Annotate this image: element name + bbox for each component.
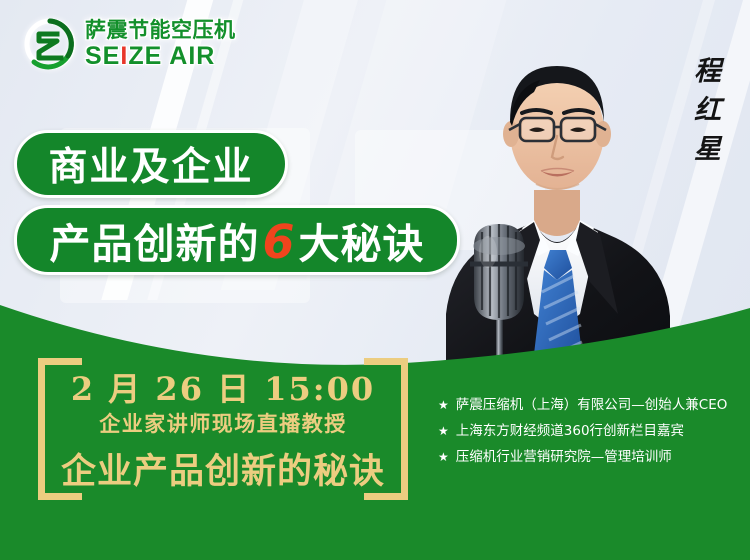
headline-line-2: 产品创新的6大秘诀 [49,210,424,270]
name-char-1: 程 [686,52,730,91]
star-icon: ★ [438,444,449,470]
logo-wordmark: 萨震节能空压机 SEIZE AIR [85,20,236,69]
star-icon: ★ [438,418,449,444]
speaker-name-vertical: 程 红 星 [686,52,730,169]
event-date-time: 2 月 26 日 15:00 [38,364,408,410]
star-icon: ★ [438,392,449,418]
event-main-title: 企业产品创新的秘诀 [38,443,408,494]
logo-english-name: SEIZE AIR [85,44,236,69]
headline-number: 6 [259,215,298,269]
credentials-list: ★ 萨震压缩机（上海）有限公司—创始人兼CEO ★ 上海东方财经频道360行创新… [438,392,738,470]
headline-line-1: 商业及企业 [48,136,253,192]
bracket-left-bottom [38,493,82,500]
sz-monogram-icon [24,18,76,70]
headline-band-1: 商业及企业 [14,130,288,198]
logo-chinese-name: 萨震节能空压机 [85,20,236,41]
name-char-2: 红 [686,91,730,130]
credential-text: 压缩机行业营销研究院—管理培训师 [456,444,672,470]
event-details: 2 月 26 日 15:00 企业家讲师现场直播教授 企业产品创新的秘诀 [38,358,408,500]
event-subtitle: 企业家讲师现场直播教授 [38,408,408,438]
brand-logo: 萨震节能空压机 SEIZE AIR [24,18,236,70]
name-char-3: 星 [686,130,730,169]
bracket-right-bottom [364,493,408,500]
list-item: ★ 萨震压缩机（上海）有限公司—创始人兼CEO [438,392,738,418]
list-item: ★ 上海东方财经频道360行创新栏目嘉宾 [438,418,738,444]
credential-text: 上海东方财经频道360行创新栏目嘉宾 [456,418,684,444]
promo-poster: 萨震节能空压机 SEIZE AIR 商业及企业 产品创新的6大秘诀 程 红 星 … [0,0,750,560]
credential-text: 萨震压缩机（上海）有限公司—创始人兼CEO [456,392,728,418]
list-item: ★ 压缩机行业营销研究院—管理培训师 [438,444,738,470]
headline-band-2: 产品创新的6大秘诀 [14,205,460,275]
